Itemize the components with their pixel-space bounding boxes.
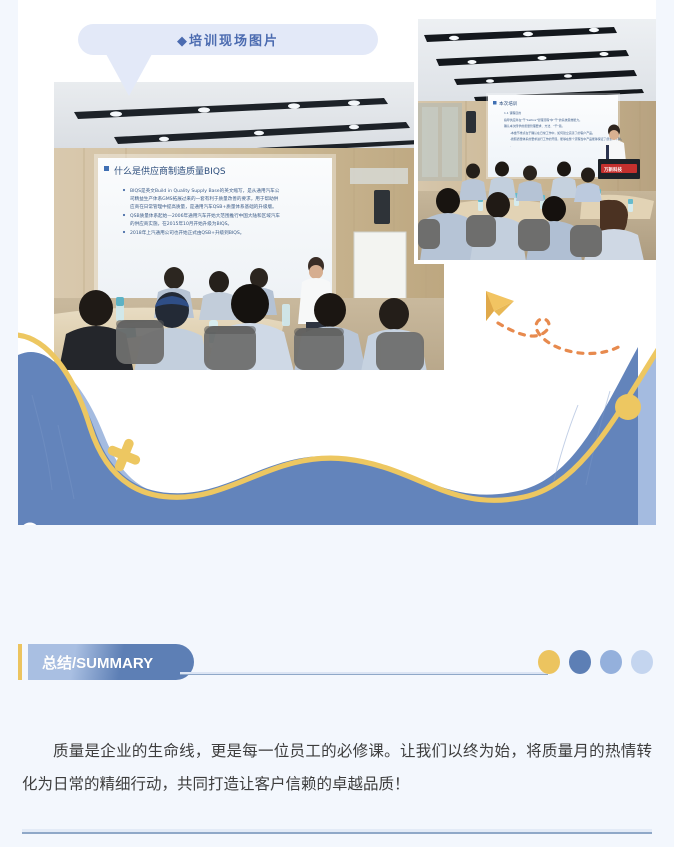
svg-text:·: ·	[510, 144, 511, 148]
bubble-body: ◆培训现场图片	[78, 24, 378, 55]
svg-text:本次培训: 本次培训	[499, 100, 518, 107]
summary-accent-bar	[18, 644, 22, 680]
article-image-card: 什么是供应商制造质量BIQS BIQS是英文Build in Quality S…	[18, 0, 656, 525]
svg-text:BIQS是英文Build in Quality Supply: BIQS是英文Build in Quality Supply Base的英文缩写…	[130, 187, 280, 194]
dot-pale-blue	[631, 650, 653, 674]
svg-text:指导供应商在"干"before"管理流程"中"干"的系统思维: 指导供应商在"干"before"管理流程"中"干"的系统思维能力。	[504, 117, 582, 122]
summary-badge: 总结/SUMMARY	[28, 644, 194, 680]
bubble-label: ◆培训现场图片	[177, 30, 279, 49]
summary-dot-group	[538, 650, 656, 674]
dot-light-blue	[600, 650, 622, 674]
section-label-bubble: ◆培训现场图片	[78, 24, 378, 88]
summary-badge-label: 总结/SUMMARY	[42, 652, 153, 673]
bottom-divider	[22, 832, 652, 834]
wave-decoration	[18, 285, 656, 525]
svg-text:确认本次所学的质量管理要求、方法、"干"篇。: 确认本次所学的质量管理要求、方法、"干"篇。	[504, 123, 564, 128]
svg-text:1.1 课程目的: 1.1 课程目的	[504, 110, 521, 115]
dot-blue	[569, 650, 591, 674]
svg-text:万新科技: 万新科技	[603, 166, 622, 173]
svg-text:-本章节重点在于确认在日常工作中，如何建立完善了的客户产品。: -本章节重点在于确认在日常工作中，如何建立完善了的客户产品。	[510, 130, 595, 135]
svg-text:-按照质量体系的要求进行工作的开展，能够在整个流程当中产品能: -按照质量体系的要求进行工作的开展，能够在整个流程当中产品能够保证了质量的下降。	[510, 136, 624, 141]
svg-text:2018年上汽通用公司也开始正式由QSB+升级到BIQS。: 2018年上汽通用公司也开始正式由QSB+升级到BIQS。	[130, 229, 244, 236]
svg-text:QSB质量体系起始—2006年通用汽车开始大范围推行中国大陆: QSB质量体系起始—2006年通用汽车开始大范围推行中国大陆和区域汽车	[130, 212, 280, 219]
bubble-tail	[106, 54, 152, 96]
summary-rule	[180, 674, 548, 675]
svg-text:司精益生产体系GMS拓展过来的一套有利于质量改善的要求，用于: 司精益生产体系GMS拓展过来的一套有利于质量改善的要求，用于帮助供	[130, 195, 279, 202]
gold-dot	[615, 394, 641, 420]
dot-gold	[538, 650, 560, 674]
svg-text:的供应商实施，在2015年10月开始升级为BIQS。: 的供应商实施，在2015年10月开始升级为BIQS。	[130, 220, 232, 227]
summary-paragraph: 质量是企业的生命线，更是每一位员工的必修课。让我们以终为始，将质量月的热情转化为…	[22, 735, 652, 801]
photo-side-scene: 本次培训 1.1 课程目的 指导供应商在"干"before"管理流程"中"干"的…	[418, 19, 656, 260]
training-photo-side[interactable]: 本次培训 1.1 课程目的 指导供应商在"干"before"管理流程"中"干"的…	[414, 15, 656, 264]
svg-text:什么是供应商制造质量BIQS: 什么是供应商制造质量BIQS	[114, 165, 226, 177]
svg-text:应商在日常管理中提高质量，是通用汽车QSB+质量体系基础的升: 应商在日常管理中提高质量，是通用汽车QSB+质量体系基础的升级版。	[130, 203, 277, 210]
